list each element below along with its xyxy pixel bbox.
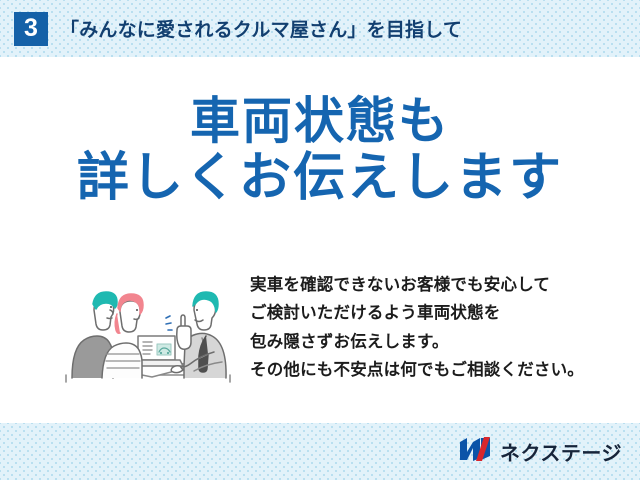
main-content: 車両状態も 詳しくお伝えします <box>0 57 640 423</box>
description-line-2: ご検討いただけるよう車両状態を <box>250 299 640 327</box>
nextage-n-mark-icon <box>459 436 493 467</box>
header: 3 「みんなに愛されるクルマ屋さん」を目指して <box>0 0 640 57</box>
step-number-badge: 3 <box>14 12 48 46</box>
nextage-logo: ネクステージ <box>459 436 622 467</box>
consultation-illustration <box>54 274 244 399</box>
header-title: 「みんなに愛されるクルマ屋さん」を目指して <box>60 15 462 42</box>
description-line-3: 包み隠さずお伝えします。 <box>250 328 640 356</box>
headline: 車両状態も 詳しくお伝えします <box>0 93 640 207</box>
description-line-4: その他にも不安点は何でもご相談ください。 <box>250 356 640 384</box>
description-text: 実車を確認できないお客様でも安心して ご検討いただけるよう車両状態を 包み隠さず… <box>250 271 640 385</box>
promo-banner: 3 「みんなに愛されるクルマ屋さん」を目指して 車両状態も 詳しくお伝えします <box>0 0 640 480</box>
headline-line-2: 詳しくお伝えします <box>0 149 640 207</box>
description-line-1: 実車を確認できないお客様でも安心して <box>250 271 640 299</box>
content-row: 実車を確認できないお客様でも安心して ご検討いただけるよう車両状態を 包み隠さず… <box>0 269 640 409</box>
nextage-logo-text: ネクステージ <box>500 437 622 466</box>
headline-line-1: 車両状態も <box>0 93 640 149</box>
footer: ネクステージ <box>0 423 640 480</box>
